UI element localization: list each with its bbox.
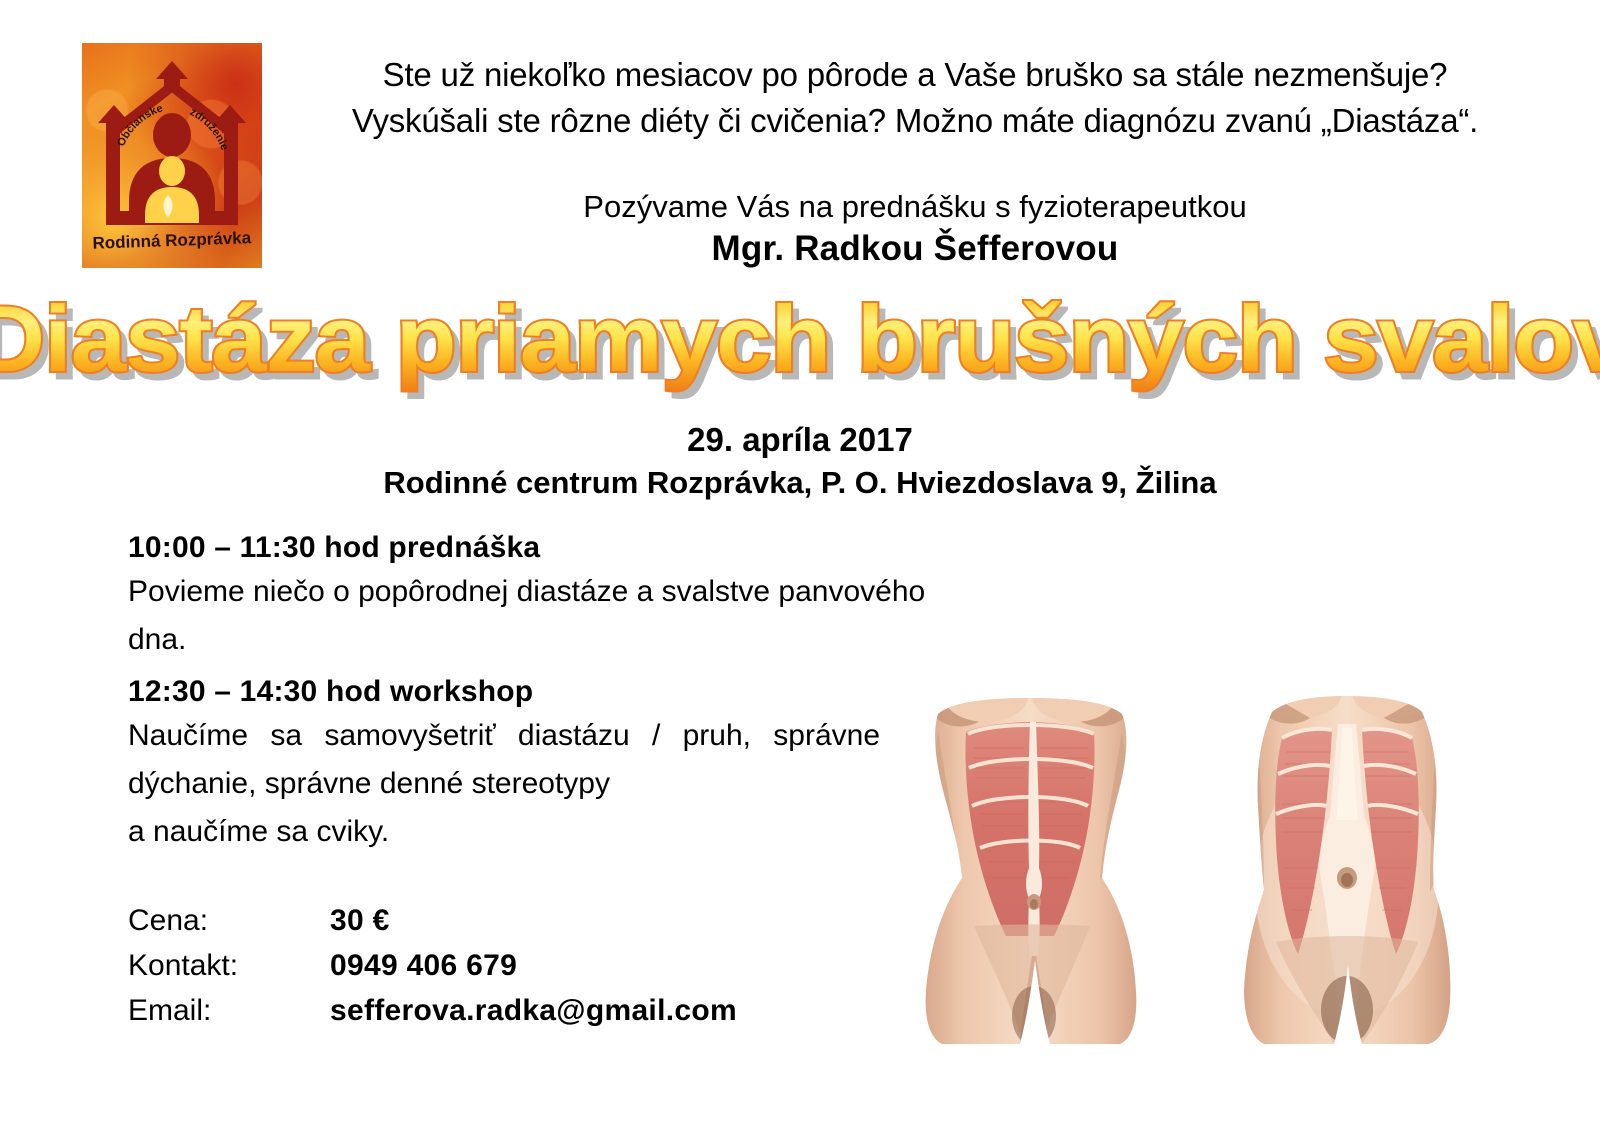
lecturer-name: Mgr. Radkou Šefferovou — [290, 228, 1540, 270]
table-row: Cena: 30 € — [128, 898, 737, 943]
invitation-block: Pozývame Vás na prednášku s fyzioterapeu… — [290, 186, 1540, 270]
breast-right — [1032, 672, 1116, 722]
header-question: Ste už niekoľko mesiacov po pôrode a Vaš… — [290, 52, 1540, 144]
phone-value[interactable]: 0949 406 679 — [330, 943, 737, 988]
event-venue: Rodinné centrum Rozprávka, P. O. Hviezdo… — [200, 462, 1400, 504]
lecture-description: Povieme niečo o popôrodnej diastáze a sv… — [128, 568, 928, 664]
price-value: 30 € — [330, 898, 737, 943]
event-date: 29. apríla 2017 — [200, 418, 1400, 462]
lecture-time-heading: 10:00 – 11:30 hod prednáška — [128, 528, 928, 568]
wordart-title: Diastáza priamych brušných svalov Diastá… — [0, 292, 1600, 386]
normal-abdomen-figure — [890, 672, 1170, 1044]
workshop-description-last-line: a naučíme sa cviky. — [128, 808, 880, 856]
price-label: Cena: — [128, 898, 330, 943]
phone-label: Kontakt: — [128, 943, 330, 988]
diastasis-abdomen-figure — [1220, 672, 1470, 1044]
organization-logo: Občianske združenie Rodinná Rozprávka — [82, 43, 262, 268]
email-value[interactable]: sefferova.radka@gmail.com — [330, 988, 737, 1033]
contact-table: Cena: 30 € Kontakt: 0949 406 679 Email: … — [128, 898, 737, 1033]
contact-block: Cena: 30 € Kontakt: 0949 406 679 Email: … — [128, 898, 737, 1033]
groin-shadow — [1321, 976, 1373, 1044]
logo-caption: Rodinná Rozprávka — [92, 228, 252, 253]
anatomy-figures — [880, 672, 1480, 1044]
navel-inner — [1030, 899, 1038, 909]
program-item-lecture: 10:00 – 11:30 hod prednáška Povieme nieč… — [128, 528, 928, 664]
event-details: 29. apríla 2017 Rodinné centrum Rozprávk… — [200, 418, 1400, 504]
poster-canvas: Občianske združenie Rodinná Rozprávka St… — [0, 0, 1600, 1132]
workshop-time-heading: 12:30 – 14:30 hod workshop — [128, 672, 880, 712]
logo-artwork: Občianske združenie Rodinná Rozprávka — [82, 43, 262, 268]
navel-inner — [1341, 873, 1353, 887]
groin-shadow — [1012, 986, 1056, 1044]
header-line-2: Vyskúšali ste rôzne diéty či cvičenia? M… — [290, 98, 1540, 144]
workshop-description: Naučíme sa samovyšetriť diastázu / pruh,… — [128, 712, 880, 856]
header-line-1: Ste už niekoľko mesiacov po pôrode a Vaš… — [290, 52, 1540, 98]
workshop-description-main: Naučíme sa samovyšetriť diastázu / pruh,… — [128, 719, 880, 800]
email-label: Email: — [128, 988, 330, 1033]
wordart-fill-layer: Diastáza priamych brušných svalov — [0, 286, 1600, 391]
invitation-line: Pozývame Vás na prednášku s fyzioterapeu… — [290, 186, 1540, 228]
program-item-workshop: 12:30 – 14:30 hod workshop Naučíme sa sa… — [128, 672, 880, 856]
table-row: Kontakt: 0949 406 679 — [128, 943, 737, 988]
page-title: Diastáza priamych brušných svalov Diastá… — [0, 292, 1600, 392]
table-row: Email: sefferova.radka@gmail.com — [128, 988, 737, 1033]
breast-left — [944, 672, 1028, 722]
